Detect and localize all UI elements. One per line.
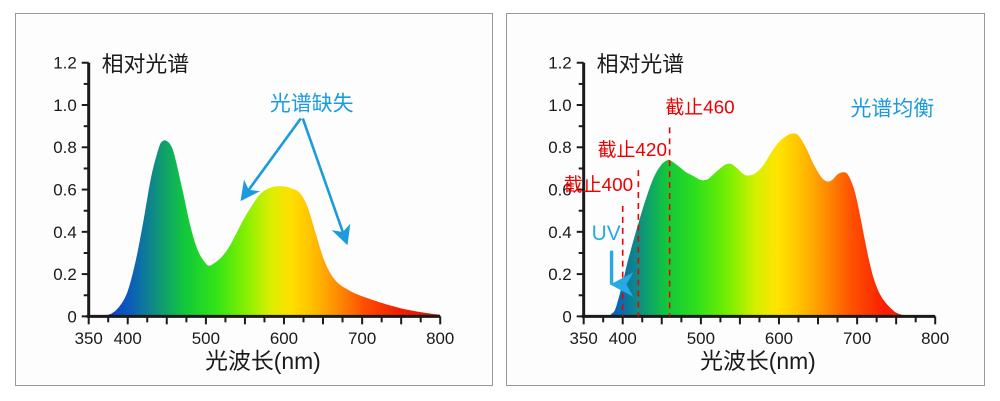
x-tick-label: 600 xyxy=(270,329,298,348)
y-tick-label: 0.4 xyxy=(53,223,77,242)
x-tick-label: 600 xyxy=(765,329,793,348)
chart-title: 相对光谱 xyxy=(597,52,685,77)
annotation-spectrum-missing-label: 光谱缺失 xyxy=(270,92,354,115)
x-tick-label: 350 xyxy=(570,329,598,348)
x-tick-label: 800 xyxy=(921,329,949,348)
y-tick-label: 1.2 xyxy=(53,54,77,73)
x-axis-title: 光波长(nm) xyxy=(700,348,816,374)
x-tick-label: 400 xyxy=(114,329,142,348)
x-tick-label: 800 xyxy=(426,329,454,348)
y-tick-label: 0 xyxy=(67,307,76,326)
x-axis-tick-labels: 350400500600700800 xyxy=(570,329,950,348)
arrow-to-green-dip xyxy=(242,118,301,199)
cutoff-460-label: 截止460 xyxy=(665,96,734,118)
chart-title: 相对光谱 xyxy=(102,52,190,77)
y-tick-label: 0.2 xyxy=(548,265,572,284)
chart-spectrum-balanced: 00.20.40.60.81.01.2 350400500600700800 相… xyxy=(507,14,984,385)
x-tick-label: 700 xyxy=(843,329,871,348)
y-tick-label: 1.2 xyxy=(548,54,572,73)
x-tick-label: 400 xyxy=(609,329,637,348)
y-tick-label: 0.2 xyxy=(53,265,77,284)
y-axis-tick-labels: 00.20.40.60.81.01.2 xyxy=(53,54,77,327)
x-tick-label: 350 xyxy=(75,329,103,348)
chart-spectrum-deficient: 00.20.40.60.81.01.2 350400500600700800 相… xyxy=(16,14,492,385)
y-tick-label: 0.8 xyxy=(548,138,572,157)
y-tick-label: 1.0 xyxy=(53,96,77,115)
x-tick-label: 500 xyxy=(192,329,220,348)
uv-label: UV xyxy=(592,222,621,245)
y-tick-label: 1.0 xyxy=(548,96,572,115)
y-tick-label: 0.6 xyxy=(53,181,77,200)
y-tick-label: 0.8 xyxy=(53,138,77,157)
annotation-spectrum-balanced-label: 光谱均衡 xyxy=(851,97,935,120)
x-axis-title: 光波长(nm) xyxy=(205,348,321,374)
panel-spectrum-balanced: 00.20.40.60.81.01.2 350400500600700800 相… xyxy=(506,13,985,386)
y-tick-label: 0.4 xyxy=(548,223,572,242)
spectrum-comparison-figure: 00.20.40.60.81.01.2 350400500600700800 相… xyxy=(0,0,1000,401)
x-tick-label: 500 xyxy=(687,329,715,348)
cutoff-420-label: 截止420 xyxy=(598,139,667,161)
panel-spectrum-deficient: 00.20.40.60.81.01.2 350400500600700800 相… xyxy=(15,13,493,386)
x-tick-label: 700 xyxy=(348,329,376,348)
x-axis-tick-labels: 350400500600700800 xyxy=(75,329,455,348)
cutoff-400-label: 截止400 xyxy=(564,174,633,196)
y-tick-label: 0 xyxy=(562,307,571,326)
